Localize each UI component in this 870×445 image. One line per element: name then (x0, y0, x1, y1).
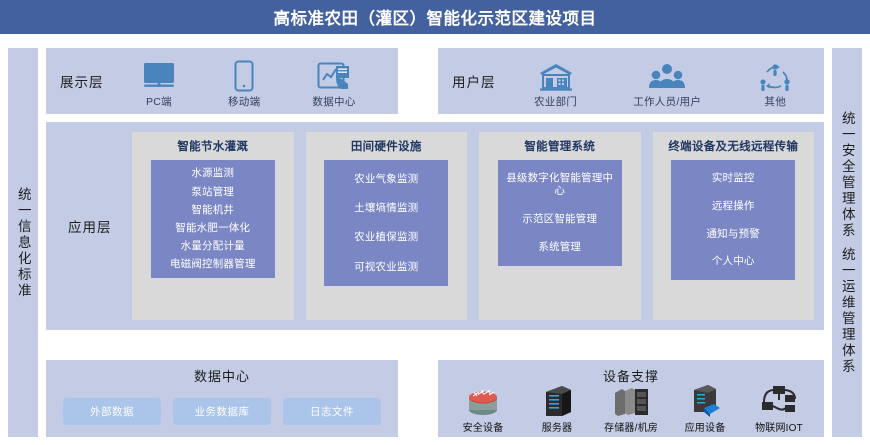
app-card-item[interactable]: 实时监控 (712, 171, 755, 186)
device-item-storage-label: 存储器/机房 (604, 419, 658, 434)
user-layer-icons: 农业部门 工作人员/用户 (534, 48, 793, 114)
people-group-icon (648, 58, 686, 92)
app-card-item[interactable]: 水量分配计量 (181, 239, 245, 254)
device-item-security-label: 安全设备 (463, 419, 504, 434)
collaboration-cycle-icon (757, 58, 793, 92)
app-card-item[interactable]: 土壤墒情监测 (354, 201, 418, 216)
right-rail-label-operations: 统一运维管理体系 (840, 247, 854, 375)
application-device-icon (686, 382, 724, 418)
data-center-chip-external[interactable]: 外部数据 (63, 398, 161, 425)
device-item-storage[interactable]: 存储器/机房 (595, 382, 667, 434)
app-card-item[interactable]: 可视农业监测 (354, 260, 418, 275)
left-rail-standards: 统一信息化标准 (8, 48, 38, 437)
display-item-mobile-label: 移动端 (228, 94, 260, 109)
device-item-application-label: 应用设备 (685, 419, 726, 434)
page-title: 高标准农田（灌区）智能化示范区建设项目 (274, 5, 597, 29)
tablet-dashboard-icon (317, 58, 351, 92)
data-center-chip-business-db[interactable]: 业务数据库 (173, 398, 271, 425)
app-card-item[interactable]: 智能机井 (191, 203, 234, 218)
display-item-pc[interactable]: PC端 (142, 53, 176, 109)
right-rail-label-security: 统一安全管理体系 (840, 111, 854, 239)
user-item-other-label: 其他 (764, 94, 786, 109)
user-item-staff-label: 工作人员/用户 (633, 94, 701, 109)
app-card-items: 农业气象监测 土壤墒情监测 农业植保监测 可视农业监测 (324, 160, 448, 286)
app-card-item[interactable]: 个人中心 (712, 254, 755, 269)
data-center-panel: 数据中心 外部数据 业务数据库 日志文件 (46, 360, 398, 437)
app-card-item[interactable]: 通知与预警 (706, 227, 760, 242)
iot-network-icon (760, 382, 798, 418)
data-center-chips: 外部数据 业务数据库 日志文件 (58, 398, 386, 425)
device-item-application[interactable]: 应用设备 (669, 382, 741, 434)
app-card-item[interactable]: 远程操作 (712, 199, 755, 214)
page-title-bar: 高标准农田（灌区）智能化示范区建设项目 (0, 0, 870, 34)
user-item-other[interactable]: 其他 (757, 53, 793, 109)
display-item-data-center-label: 数据中心 (312, 94, 355, 109)
app-card-terminal-transmission[interactable]: 终端设备及无线远程传输 实时监控 远程操作 通知与预警 个人中心 (653, 132, 815, 320)
app-card-title: 终端设备及无线远程传输 (668, 140, 798, 154)
device-item-security[interactable]: 安全设备 (447, 382, 519, 434)
user-layer-label: 用户层 (452, 71, 496, 91)
device-item-server[interactable]: 服务器 (521, 382, 593, 434)
app-card-item[interactable]: 泵站管理 (191, 185, 234, 200)
application-cards: 智能节水灌溉 水源监测 泵站管理 智能机井 智能水肥一体化 水量分配计量 电磁阀… (132, 132, 814, 320)
device-item-iot-label: 物联网IOT (755, 419, 803, 434)
app-card-item[interactable]: 水源监测 (191, 166, 234, 181)
app-card-title: 智能节水灌溉 (177, 140, 248, 154)
right-rail-management: 统一安全管理体系 统一运维管理体系 (832, 48, 862, 437)
device-item-iot[interactable]: 物联网IOT (743, 382, 815, 434)
user-layer-panel: 用户层 农业部门 (438, 48, 824, 114)
display-item-pc-label: PC端 (146, 94, 172, 109)
display-item-mobile[interactable]: 移动端 (228, 53, 260, 109)
user-item-staff[interactable]: 工作人员/用户 (633, 53, 701, 109)
application-layer-label: 应用层 (68, 216, 112, 236)
app-card-management-system[interactable]: 智能管理系统 县级数字化智能管理中心 示范区智能管理 系统管理 (479, 132, 641, 320)
security-router-icon (463, 382, 503, 418)
mobile-phone-icon (234, 58, 254, 92)
display-layer-panel: 展示层 PC端 移动端 (46, 48, 398, 114)
display-item-data-center[interactable]: 数据中心 (312, 53, 355, 109)
app-card-smart-irrigation[interactable]: 智能节水灌溉 水源监测 泵站管理 智能机井 智能水肥一体化 水量分配计量 电磁阀… (132, 132, 294, 320)
data-center-title: 数据中心 (46, 366, 398, 385)
storage-rack-icon (611, 382, 651, 418)
user-item-agri-dept[interactable]: 农业部门 (534, 53, 577, 109)
app-card-item[interactable]: 县级数字化智能管理中心 (502, 171, 618, 199)
display-layer-icons: PC端 移动端 (142, 48, 356, 114)
application-layer-panel: 应用层 智能节水灌溉 水源监测 泵站管理 智能机井 智能水肥一体化 水量分配计量… (46, 122, 824, 330)
data-center-chip-log-files[interactable]: 日志文件 (283, 398, 381, 425)
server-tower-icon (540, 382, 574, 418)
government-building-icon (537, 58, 575, 92)
app-card-items: 水源监测 泵站管理 智能机井 智能水肥一体化 水量分配计量 电磁阀控制器管理 (151, 160, 275, 278)
left-rail-label: 统一信息化标准 (16, 187, 30, 299)
device-support-items: 安全设备 服务器 (446, 382, 816, 434)
app-card-title: 智能管理系统 (524, 140, 595, 154)
user-item-agri-dept-label: 农业部门 (534, 94, 577, 109)
device-support-panel: 设备支撑 安全设备 (438, 360, 824, 437)
app-card-item[interactable]: 智能水肥一体化 (175, 221, 250, 236)
app-card-item[interactable]: 农业植保监测 (354, 230, 418, 245)
app-card-item[interactable]: 示范区智能管理 (522, 212, 597, 227)
device-item-server-label: 服务器 (542, 419, 573, 434)
display-layer-label: 展示层 (60, 71, 104, 91)
monitor-icon (142, 58, 176, 92)
diagram-root: 高标准农田（灌区）智能化示范区建设项目 统一信息化标准 统一安全管理体系 统一运… (0, 0, 870, 445)
app-card-items: 县级数字化智能管理中心 示范区智能管理 系统管理 (498, 160, 622, 266)
app-card-item[interactable]: 系统管理 (538, 240, 581, 255)
app-card-field-hardware[interactable]: 田间硬件设施 农业气象监测 土壤墒情监测 农业植保监测 可视农业监测 (306, 132, 468, 320)
app-card-title: 田间硬件设施 (351, 140, 422, 154)
app-card-item[interactable]: 电磁阀控制器管理 (170, 257, 256, 272)
app-card-items: 实时监控 远程操作 通知与预警 个人中心 (671, 160, 795, 280)
app-card-item[interactable]: 农业气象监测 (354, 172, 418, 187)
